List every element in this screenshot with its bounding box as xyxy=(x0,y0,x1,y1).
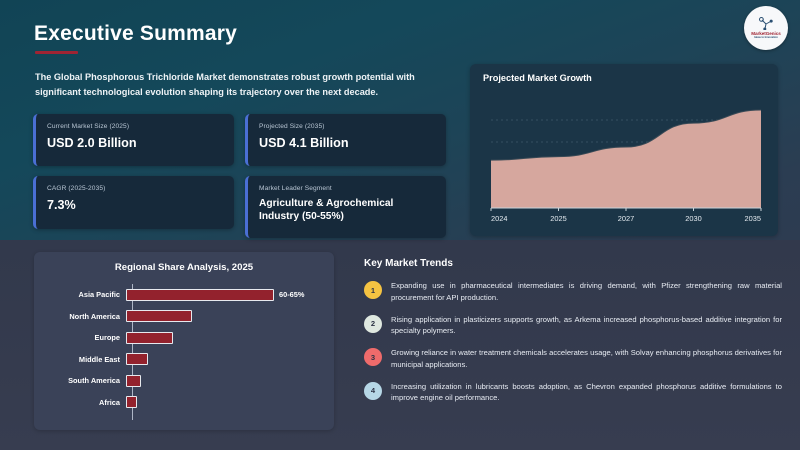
bar-row: South America xyxy=(34,370,334,392)
svg-text:2027: 2027 xyxy=(618,214,634,223)
trend-text: Rising application in plasticizers suppo… xyxy=(391,314,782,337)
svg-text:2030: 2030 xyxy=(685,214,701,223)
trend-text: Increasing utilization in lubricants boo… xyxy=(391,381,782,404)
trend-number-badge: 3 xyxy=(364,348,382,366)
trend-text: Growing reliance in water treatment chem… xyxy=(391,347,782,370)
trend-item: 1Expanding use in pharmaceutical interme… xyxy=(364,280,782,303)
bar-fill xyxy=(126,396,137,408)
kpi-value: 7.3% xyxy=(47,197,222,213)
kpi-label: CAGR (2025-2035) xyxy=(47,185,222,192)
bar-track xyxy=(126,327,334,349)
bar-track xyxy=(126,306,334,328)
bar-row: Middle East xyxy=(34,349,334,371)
bar-category-label: North America xyxy=(34,312,126,321)
company-logo: MarketGenics Ideas to Innovation xyxy=(744,6,788,50)
bar-track: 60-65% xyxy=(126,284,334,306)
trend-text: Expanding use in pharmaceutical intermed… xyxy=(391,280,782,303)
bar-fill xyxy=(126,289,274,301)
bar-track xyxy=(126,370,334,392)
bar-category-label: Asia Pacific xyxy=(34,290,126,299)
bar-category-label: Europe xyxy=(34,333,126,342)
kpi-card-projected-size: Projected Size (2035) USD 4.1 Billion xyxy=(245,114,446,166)
projected-market-growth-panel: Projected Market Growth 2024202520272030… xyxy=(470,64,778,236)
kpi-value: USD 2.0 Billion xyxy=(47,135,222,151)
trend-item: 4Increasing utilization in lubricants bo… xyxy=(364,381,782,404)
kpi-card-current-market-size: Current Market Size (2025) USD 2.0 Billi… xyxy=(33,114,234,166)
bar-row: Europe xyxy=(34,327,334,349)
page-subtitle: The Global Phosphorous Trichloride Marke… xyxy=(35,70,445,100)
regional-share-panel: Regional Share Analysis, 2025 Asia Pacif… xyxy=(34,252,334,430)
page-title: Executive Summary xyxy=(34,22,237,46)
kpi-card-cagr: CAGR (2025-2035) 7.3% xyxy=(33,176,234,229)
trend-item: 2Rising application in plasticizers supp… xyxy=(364,314,782,337)
trends-title: Key Market Trends xyxy=(364,258,453,269)
kpi-value: Agriculture & Agrochemical Industry (50-… xyxy=(259,197,434,223)
bar-fill xyxy=(126,332,173,344)
kpi-card-market-leader-segment: Market Leader Segment Agriculture & Agro… xyxy=(245,176,446,238)
molecule-icon xyxy=(758,17,774,31)
kpi-label: Market Leader Segment xyxy=(259,185,434,192)
bar-track xyxy=(126,349,334,371)
kpi-label: Current Market Size (2025) xyxy=(47,123,222,130)
growth-area-chart: 20242025202720302035 xyxy=(483,94,765,226)
bar-row: Africa xyxy=(34,392,334,414)
bar-fill xyxy=(126,375,141,387)
bars-chart-title: Regional Share Analysis, 2025 xyxy=(34,262,334,273)
svg-text:2024: 2024 xyxy=(491,214,507,223)
bar-track xyxy=(126,392,334,414)
trends-list: 1Expanding use in pharmaceutical interme… xyxy=(364,280,782,414)
growth-chart-title: Projected Market Growth xyxy=(483,73,592,83)
bar-fill xyxy=(126,353,148,365)
bars-chart-body: Asia Pacific60-65%North AmericaEuropeMid… xyxy=(34,284,334,424)
svg-text:2035: 2035 xyxy=(745,214,761,223)
svg-text:2025: 2025 xyxy=(550,214,566,223)
kpi-value: USD 4.1 Billion xyxy=(259,135,434,151)
bar-category-label: South America xyxy=(34,376,126,385)
title-underline-accent xyxy=(35,51,78,54)
logo-tagline: Ideas to Innovation xyxy=(754,36,778,39)
bar-category-label: Africa xyxy=(34,398,126,407)
trend-number-badge: 1 xyxy=(364,281,382,299)
bar-fill xyxy=(126,310,192,322)
slide-root: Executive Summary The Global Phosphorous… xyxy=(0,0,800,450)
kpi-label: Projected Size (2035) xyxy=(259,123,434,130)
bar-row: North America xyxy=(34,306,334,328)
bar-row: Asia Pacific60-65% xyxy=(34,284,334,306)
bar-value-label: 60-65% xyxy=(279,290,304,299)
bar-category-label: Middle East xyxy=(34,355,126,364)
trend-number-badge: 4 xyxy=(364,382,382,400)
trend-number-badge: 2 xyxy=(364,315,382,333)
trend-item: 3Growing reliance in water treatment che… xyxy=(364,347,782,370)
